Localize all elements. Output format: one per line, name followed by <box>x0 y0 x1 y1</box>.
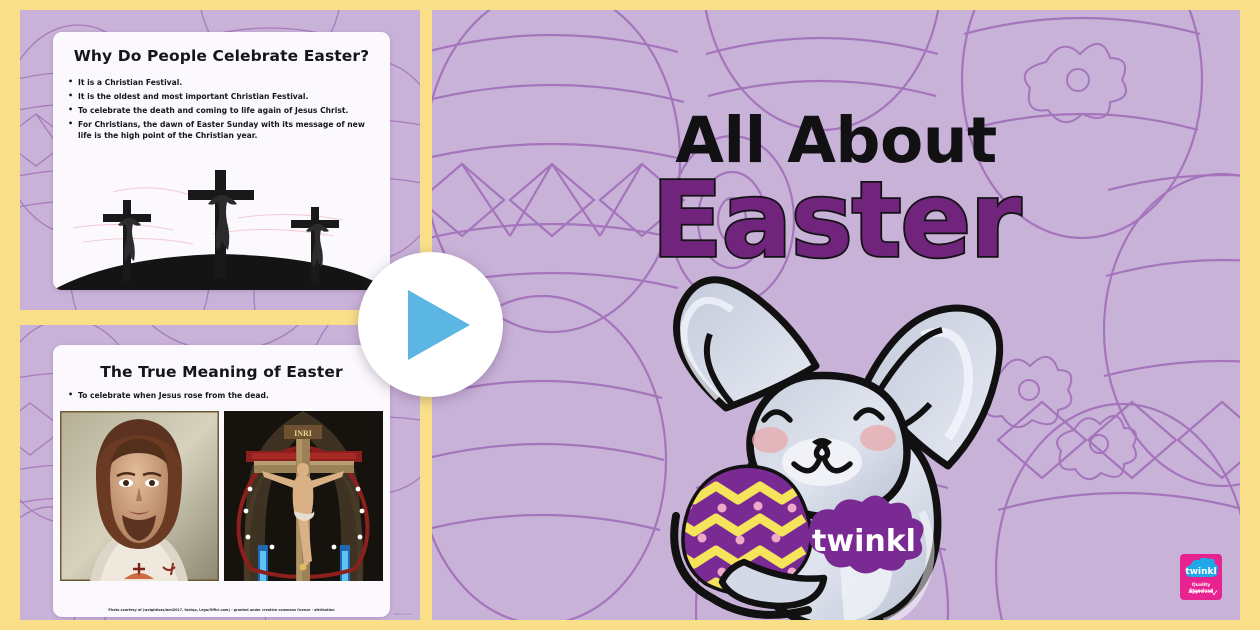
slide-2-title: The True Meaning of Easter <box>53 363 390 381</box>
play-triangle-icon <box>408 290 470 360</box>
slide-1-title: Why Do People Celebrate Easter? <box>53 47 390 65</box>
badge-cloud-icon: twinkl <box>1183 558 1219 582</box>
slide-thumbnail-2[interactable]: The True Meaning of Easter To celebrate … <box>20 325 420 620</box>
bunny-left-cheek <box>752 427 788 453</box>
slide-thumbnail-1[interactable]: Why Do People Celebrate Easter? It is a … <box>20 10 420 310</box>
badge-check-icon: ✓ <box>1211 590 1219 599</box>
list-item: To celebrate the death and coming to lif… <box>67 105 367 116</box>
twinkl-logo-text: twinkl <box>812 524 916 559</box>
inri-inscription: INRI <box>294 429 312 438</box>
slide-2-bullet-list: To celebrate when Jesus rose from the de… <box>67 390 390 401</box>
photo-credit-text: Photo courtesy of (weightloss/bmi2017, f… <box>53 609 390 613</box>
bunny-right-cheek <box>860 425 896 451</box>
church-crucifix-photo: INRI <box>224 411 383 581</box>
jesus-portrait-photo <box>60 411 219 581</box>
list-item: It is a Christian Festival. <box>67 77 367 88</box>
easter-bunny-illustration: twinkl <box>622 262 1052 620</box>
list-item: For Christians, the dawn of Easter Sunda… <box>67 119 367 142</box>
thumbnail-corner-watermark: twinkl.co.uk <box>394 612 412 616</box>
list-item: To celebrate when Jesus rose from the de… <box>67 390 367 401</box>
slide-2-image-row: INRI <box>53 411 390 581</box>
list-item: It is the oldest and most important Chri… <box>67 91 367 102</box>
slide-1-bullet-list: It is a Christian Festival. It is the ol… <box>67 77 390 142</box>
play-preview-button[interactable] <box>358 252 503 397</box>
three-crosses-illustration <box>53 162 390 290</box>
badge-logo-text: twinkl <box>1185 567 1216 577</box>
slide-2-content-card: The True Meaning of Easter To celebrate … <box>53 345 390 617</box>
main-slide-preview[interactable]: All About Easter <box>432 10 1240 620</box>
twinkl-quality-badge[interactable]: twinkl Quality Standard Approved ✓ <box>1180 554 1222 600</box>
slide-1-content-card: Why Do People Celebrate Easter? It is a … <box>53 32 390 290</box>
